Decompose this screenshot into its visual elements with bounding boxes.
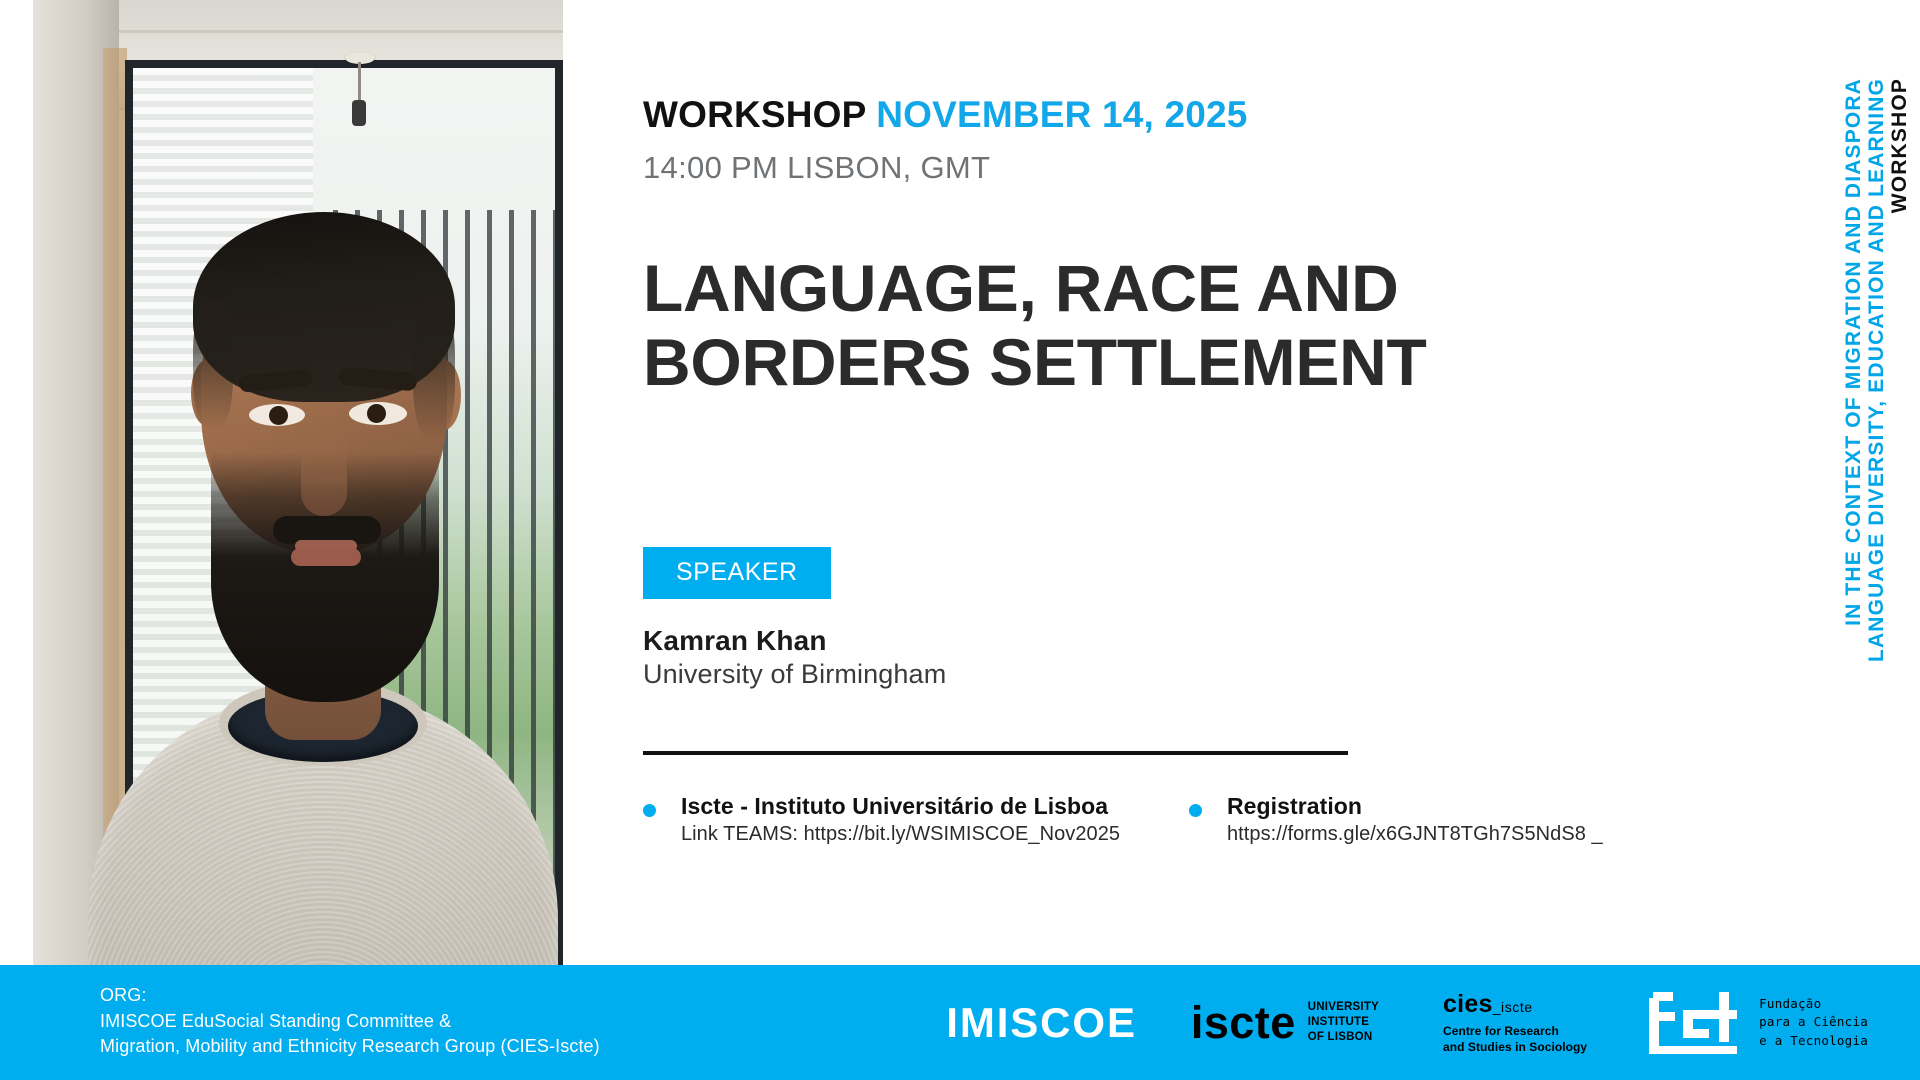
photo-person-pupil-right xyxy=(367,404,386,423)
speaker-affiliation: University of Birmingham xyxy=(643,659,1773,690)
org-line-3: Migration, Mobility and Ethnicity Resear… xyxy=(100,1034,600,1060)
main-content-column: WORKSHOP NOVEMBER 14, 2025 14:00 PM LISB… xyxy=(643,0,1773,846)
fct-tagline-line-3: e a Tecnologia xyxy=(1759,1032,1868,1050)
kicker-date: NOVEMBER 14, 2025 xyxy=(876,94,1247,135)
org-label: ORG: xyxy=(100,983,600,1009)
fct-mark-icon xyxy=(1649,992,1745,1054)
event-kicker: WORKSHOP NOVEMBER 14, 2025 xyxy=(643,95,1773,136)
bullet-dot-icon xyxy=(1189,804,1202,817)
vertical-series-title: WORKSHOP LANGUAGE DIVERSITY, EDUCATION A… xyxy=(1843,78,1910,698)
title-line-2: BORDERS SETTLEMENT xyxy=(643,326,1543,400)
iscte-tagline-line-1: UNIVERSITY xyxy=(1308,1000,1379,1015)
section-divider xyxy=(643,751,1348,755)
organizers-text: ORG: IMISCOE EduSocial Standing Committe… xyxy=(100,983,600,1060)
iscte-tagline-line-3: OF LISBON xyxy=(1308,1030,1379,1045)
photo-person-sideburn-right xyxy=(413,300,455,440)
cies-wordmark: cies_iscte xyxy=(1443,990,1587,1019)
cies-tagline: Centre for Research and Studies in Socio… xyxy=(1443,1024,1587,1056)
iscte-tagline: UNIVERSITY INSTITUTE OF LISBON xyxy=(1308,1000,1379,1044)
iscte-logo: iscte UNIVERSITY INSTITUTE OF LISBON xyxy=(1191,997,1379,1049)
bullet-dot-icon xyxy=(643,804,656,817)
vertical-subtitle-line-2: IN THE CONTEXT OF MIGRATION AND DIASPORA xyxy=(1843,78,1864,626)
imiscoe-logo: IMISCOE xyxy=(946,999,1137,1047)
registration-heading: Registration xyxy=(1227,793,1603,820)
cies-tagline-line-1: Centre for Research xyxy=(1443,1024,1587,1040)
event-time-location: 14:00 PM LISBON, GMT xyxy=(643,150,1773,186)
registration-link-block: Registration https://forms.gle/x6GJNT8TG… xyxy=(1189,793,1603,846)
iscte-tagline-line-2: INSTITUTE xyxy=(1308,1015,1379,1030)
photo-person-nose xyxy=(301,424,347,516)
cies-word: cies xyxy=(1443,990,1493,1018)
cies-tagline-line-2: and Studies in Sociology xyxy=(1443,1040,1587,1056)
kicker-workshop-label: WORKSHOP xyxy=(643,94,866,135)
iscte-wordmark: iscte xyxy=(1191,997,1296,1049)
speaker-badge: SPEAKER xyxy=(643,547,831,599)
photo-person-eye-right xyxy=(349,402,407,425)
event-poster: WORKSHOP NOVEMBER 14, 2025 14:00 PM LISB… xyxy=(0,0,1920,1080)
photo-person-sideburn-left xyxy=(193,300,233,430)
photo-lamp-body xyxy=(352,100,366,126)
venue-link-block: Iscte - Instituto Universitário de Lisbo… xyxy=(643,793,1189,846)
org-line-2: IMISCOE EduSocial Standing Committee & xyxy=(100,1009,600,1035)
cies-logo: cies_iscte Centre for Research and Studi… xyxy=(1443,990,1587,1056)
teams-link[interactable]: Link TEAMS: https://bit.ly/WSIMISCOE_Nov… xyxy=(681,823,1189,846)
speaker-photo xyxy=(33,0,563,965)
registration-link[interactable]: https://forms.gle/x6GJNT8TGh7S5NdS8 _ xyxy=(1227,823,1603,846)
speaker-name: Kamran Khan xyxy=(643,625,1773,657)
fct-tagline-line-1: Fundação xyxy=(1759,995,1868,1013)
photo-person-eye-left xyxy=(249,404,305,426)
title-line-1: LANGUAGE, RACE AND xyxy=(643,252,1543,326)
fct-logo: Fundação para a Ciência e a Tecnologia xyxy=(1649,992,1868,1054)
links-row: Iscte - Instituto Universitário de Lisbo… xyxy=(643,793,1773,846)
vertical-workshop-label: WORKSHOP xyxy=(1889,78,1910,213)
fct-tagline-line-2: para a Ciência xyxy=(1759,1013,1868,1031)
footer-band: ORG: IMISCOE EduSocial Standing Committe… xyxy=(0,965,1920,1080)
fct-tagline: Fundação para a Ciência e a Tecnologia xyxy=(1759,995,1868,1049)
venue-heading: Iscte - Instituto Universitário de Lisbo… xyxy=(681,793,1189,820)
vertical-subtitle-line-1: LANGUAGE DIVERSITY, EDUCATION AND LEARNI… xyxy=(1866,78,1887,662)
photo-person-mouth xyxy=(291,548,361,566)
cies-suffix: _iscte xyxy=(1493,999,1533,1015)
footer-logos: IMISCOE iscte UNIVERSITY INSTITUTE OF LI… xyxy=(946,965,1868,1080)
page-title: LANGUAGE, RACE AND BORDERS SETTLEMENT xyxy=(643,252,1543,400)
photo-person-pupil-left xyxy=(269,406,288,425)
